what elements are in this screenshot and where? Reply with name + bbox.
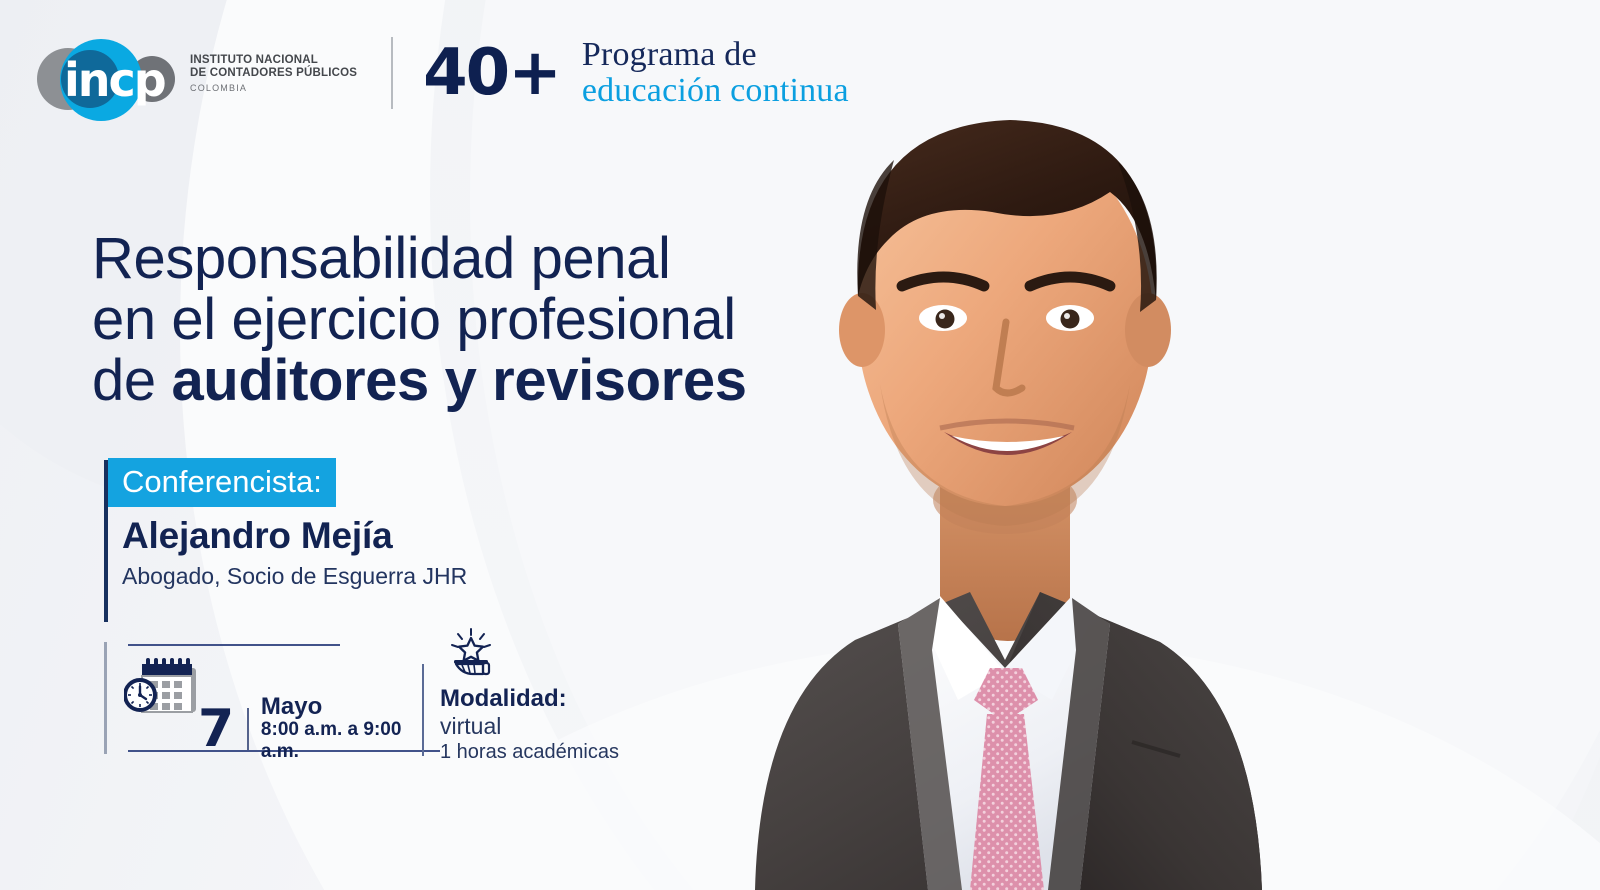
event-details-strip: 7 Mayo 8:00 a.m. a 9:00 a.m. — [104, 638, 664, 758]
portrait-illustration — [640, 0, 1600, 890]
event-title-line-3-emphasis: auditores y revisores — [171, 348, 746, 413]
speaker-portrait — [640, 0, 1600, 890]
program-badge-count: 40+ — [423, 41, 560, 105]
brand-header: incp INSTITUTO NACIONAL DE CONTADORES PÚ… — [34, 34, 849, 112]
speaker-label-badge: Conferencista: — [108, 458, 336, 507]
event-title: Responsabilidad penal en el ejercicio pr… — [92, 228, 747, 411]
event-title-line-1: Responsabilidad penal — [92, 228, 747, 289]
event-title-line-2: en el ejercicio profesional — [92, 289, 747, 350]
details-column-separator — [422, 664, 424, 756]
logo-institution-text: INSTITUTO NACIONAL DE CONTADORES PÚBLICO… — [190, 54, 357, 93]
speaker-block: Conferencista: Alejandro Mejía Abogado, … — [104, 458, 564, 590]
incp-logo-icon[interactable]: incp — [34, 34, 184, 112]
event-modality-block: Modalidad: virtual 1 horas académicas — [440, 628, 670, 765]
event-title-line-3: de auditores y revisores — [92, 350, 747, 411]
hand-star-icon — [442, 628, 670, 683]
speaker-name: Alejandro Mejía — [122, 515, 564, 557]
date-separator — [247, 708, 249, 750]
logo-wordmark: incp — [64, 57, 165, 103]
event-title-line-3-prefix: de — [92, 348, 171, 413]
header-divider — [391, 37, 393, 109]
event-promo-banner: incp INSTITUTO NACIONAL DE CONTADORES PÚ… — [0, 0, 1600, 890]
program-title-line-2: educación continua — [582, 73, 849, 109]
speaker-role: Abogado, Socio de Esguerra JHR — [122, 563, 564, 590]
event-date-text: 7 Mayo 8:00 a.m. a 9:00 a.m. — [198, 694, 420, 763]
calendar-clock-icon — [124, 654, 202, 725]
modality-title: Modalidad: — [440, 685, 670, 713]
modality-value: virtual — [440, 713, 670, 740]
program-title: Programa de educación continua — [582, 37, 849, 108]
event-time-range: 8:00 a.m. a 9:00 a.m. — [261, 719, 420, 763]
modality-academic-hours: 1 horas académicas — [440, 740, 670, 765]
logo-line-3: COLOMBIA — [190, 83, 357, 93]
details-top-rule — [128, 644, 340, 646]
details-accent-bar — [104, 642, 107, 754]
event-day: 7 — [198, 703, 233, 755]
logo-line-1: INSTITUTO NACIONAL — [190, 54, 357, 67]
logo-line-2: DE CONTADORES PÚBLICOS — [190, 67, 357, 80]
program-title-line-1: Programa de — [582, 37, 849, 73]
event-month: Mayo — [261, 694, 420, 719]
speaker-accent-bar — [104, 460, 108, 622]
